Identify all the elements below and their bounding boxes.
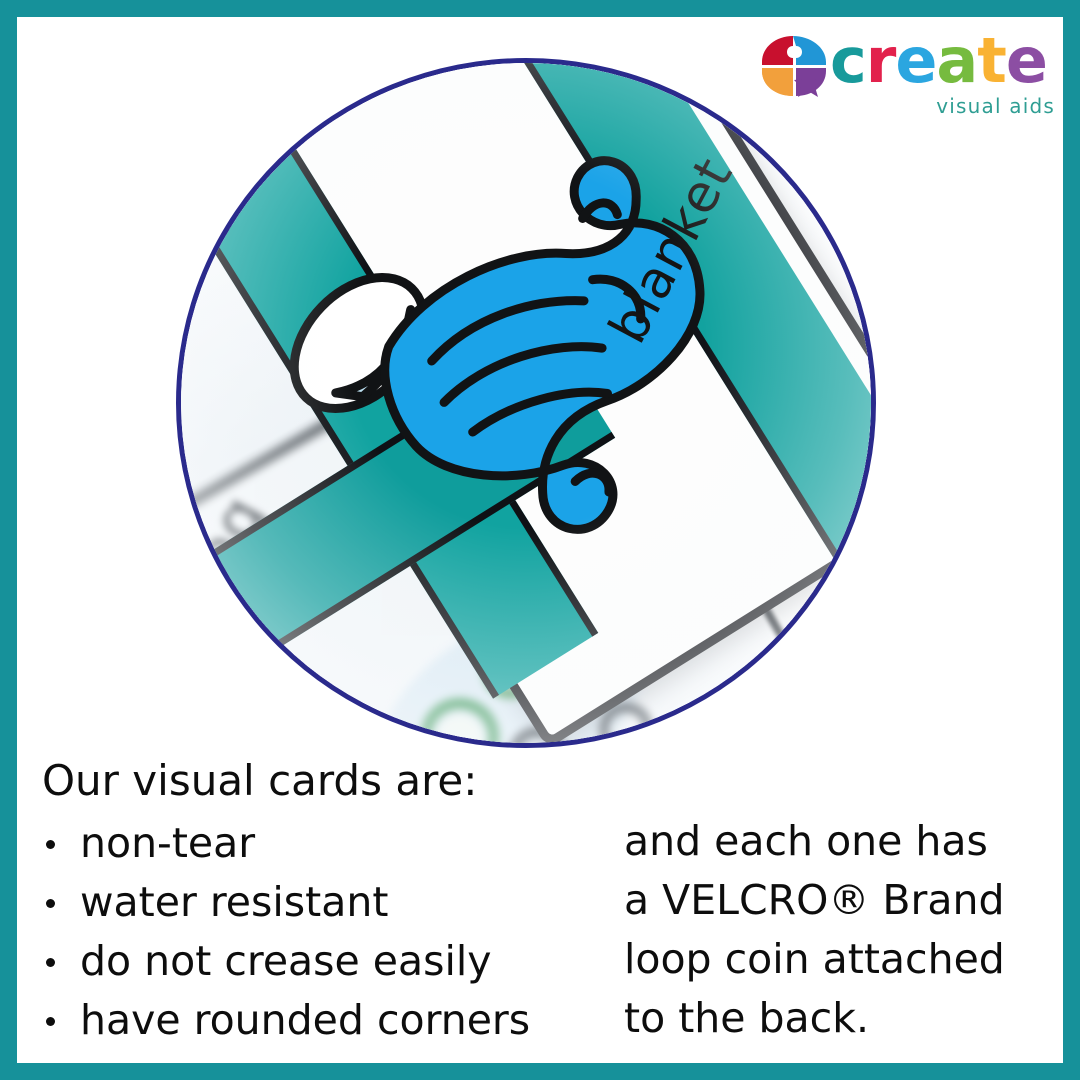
list-item: have rounded corners xyxy=(38,991,598,1050)
logo-tagline: visual aids xyxy=(936,94,1055,118)
logo-letter-e2: e xyxy=(1006,26,1047,96)
list-item: non-tear xyxy=(38,814,598,873)
logo-letter-r: r xyxy=(866,26,896,96)
product-marketing-image: ng xyxy=(0,0,1080,1080)
list-item: water resistant xyxy=(38,873,598,932)
logo-wordmark: create xyxy=(830,26,1047,96)
logo-letter-t: t xyxy=(977,26,1006,96)
list-item: do not crease easily xyxy=(38,932,598,991)
velcro-note: and each one has a VELCRO® Brand loop co… xyxy=(624,812,1054,1048)
brand-logo[interactable]: create visual aids xyxy=(752,26,1057,121)
puzzle-circle-icon xyxy=(756,32,832,98)
photo-inner: ng xyxy=(181,63,871,743)
velcro-line-1: and each one has xyxy=(624,812,1054,871)
velcro-line-3: loop coin attached xyxy=(624,930,1054,989)
logo-letter-a: a xyxy=(936,26,977,96)
logo-letter-c: c xyxy=(830,26,866,96)
product-photo-circle: ng xyxy=(176,58,876,748)
marketing-copy: Our visual cards are: non-tear water res… xyxy=(0,748,1080,1068)
copy-lead: Our visual cards are: xyxy=(42,756,477,805)
velcro-line-2: a VELCRO® Brand xyxy=(624,871,1054,930)
feature-bullet-list: non-tear water resistant do not crease e… xyxy=(38,814,598,1050)
velcro-line-4: to the back. xyxy=(624,989,1054,1048)
logo-letter-e1: e xyxy=(895,26,936,96)
